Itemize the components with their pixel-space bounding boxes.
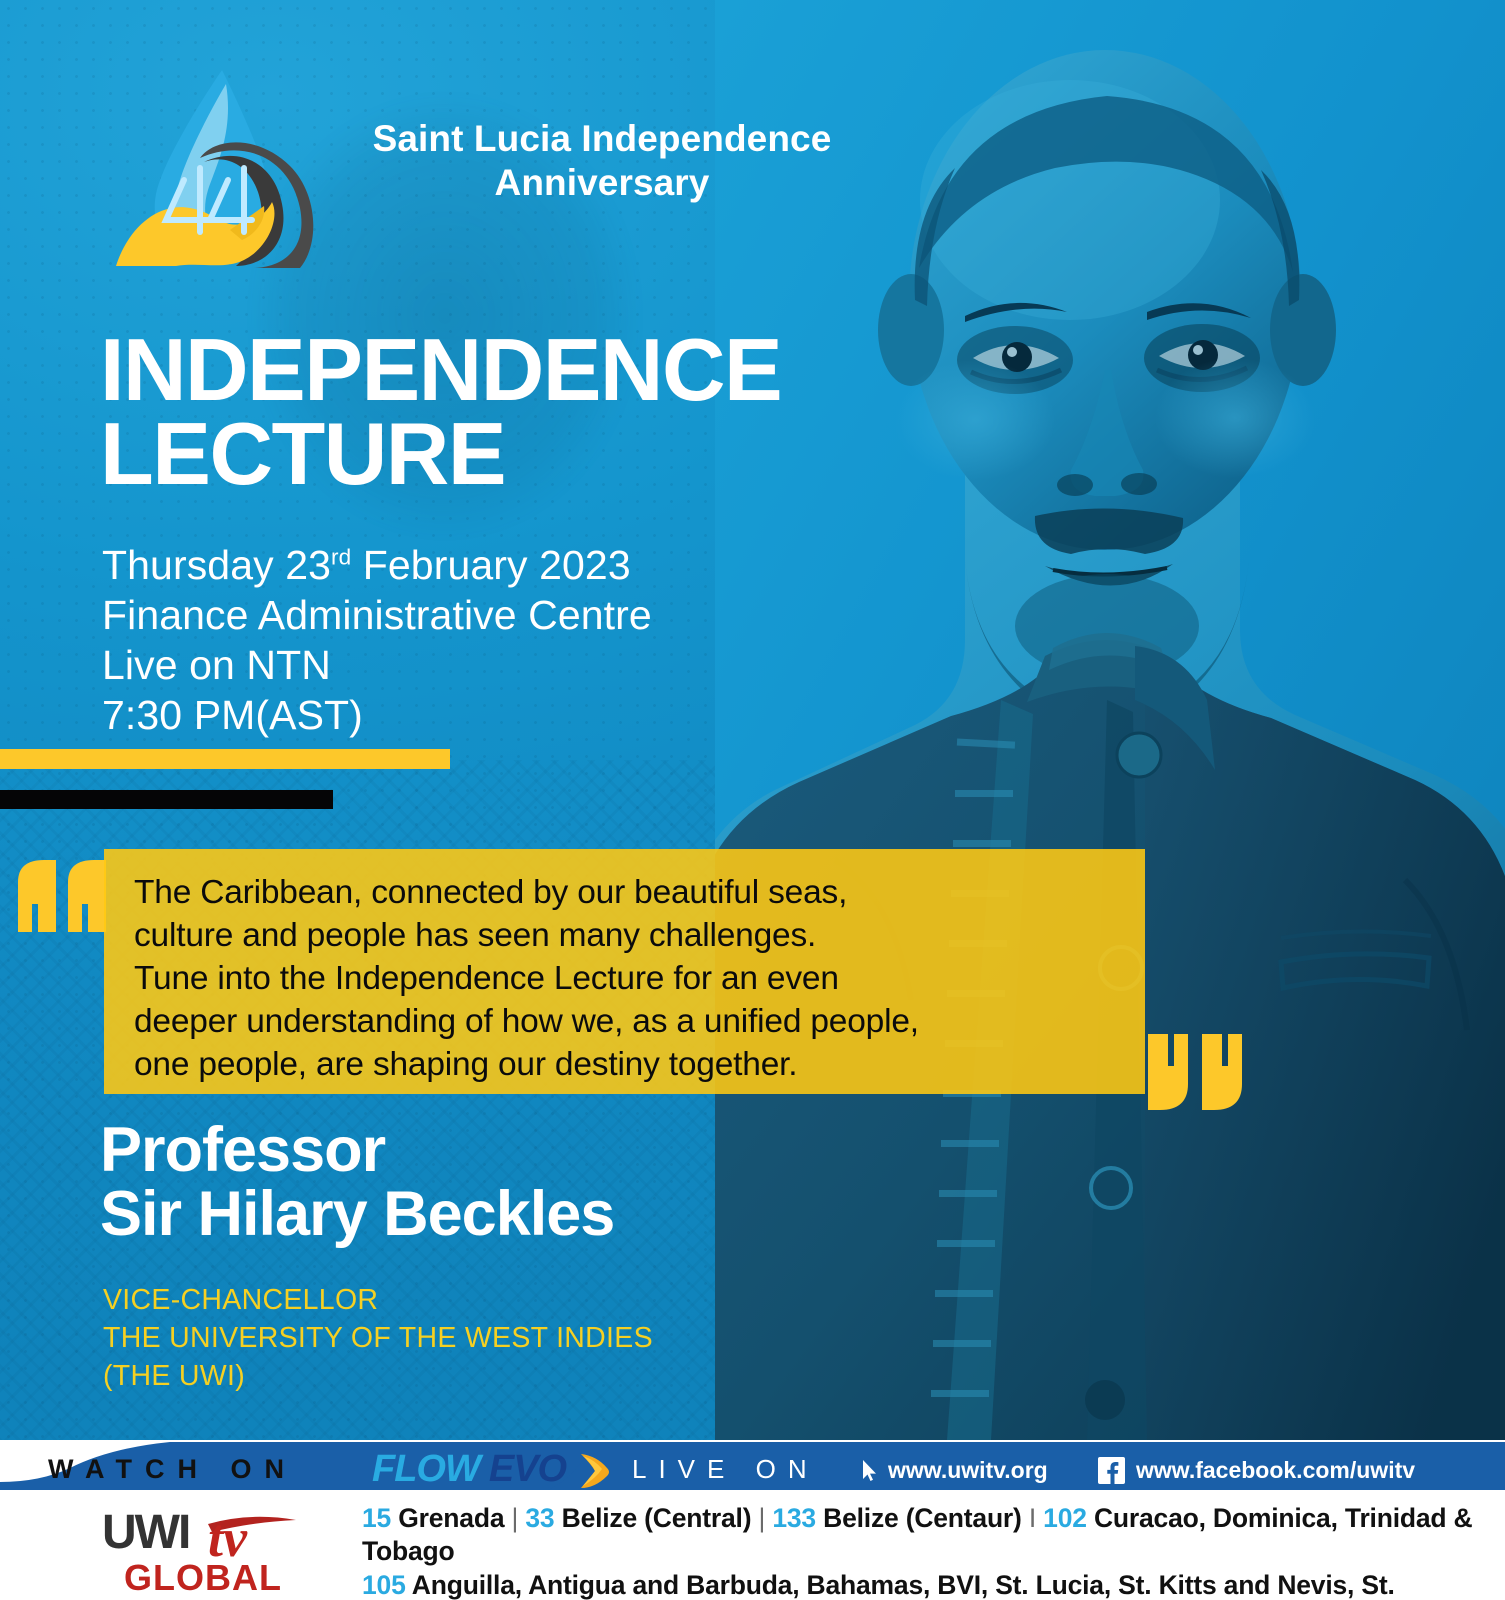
quote-open-icon bbox=[18, 860, 106, 932]
channel-listing: 15 Grenada | 33 Belize (Central) | 133 B… bbox=[362, 1502, 1482, 1600]
svg-text:GLOBAL: GLOBAL bbox=[124, 1557, 282, 1594]
cursor-arrow-icon bbox=[862, 1460, 878, 1482]
channel-number: 133 bbox=[772, 1503, 816, 1533]
speaker-role-line3: (THE UWI) bbox=[103, 1358, 863, 1396]
website-link[interactable]: www.uwitv.org bbox=[862, 1457, 1048, 1484]
speaker-role: VICE-CHANCELLOR THE UNIVERSITY OF THE WE… bbox=[103, 1282, 863, 1396]
channel-row: 105 Anguilla, Antigua and Barbuda, Baham… bbox=[362, 1569, 1482, 1600]
channel-row: 15 Grenada | 33 Belize (Central) | 133 B… bbox=[362, 1502, 1482, 1569]
uwitv-global-logo: UWI tv GLOBAL bbox=[100, 1502, 315, 1594]
quote-close-icon bbox=[1148, 1034, 1242, 1110]
quote-box: The Caribbean, connected by our beautifu… bbox=[104, 849, 1145, 1094]
channel-name: Grenada bbox=[391, 1503, 511, 1533]
channel-name: Belize (Centaur) bbox=[816, 1503, 1029, 1533]
headline-line2: LECTURE bbox=[100, 412, 900, 496]
event-date: Thursday 23rd February 2023 bbox=[102, 540, 862, 590]
quote-line-1: The Caribbean, connected by our beautifu… bbox=[134, 871, 1119, 914]
channel-number: 102 bbox=[1043, 1503, 1087, 1533]
live-on-label: LIVE ON bbox=[632, 1454, 819, 1485]
channel-number: 33 bbox=[525, 1503, 554, 1533]
saint-lucia-44-logo-icon bbox=[104, 62, 332, 282]
speaker-name: Professor Sir Hilary Beckles bbox=[100, 1118, 860, 1247]
quote-line-4: deeper understanding of how we, as a uni… bbox=[134, 1000, 1119, 1043]
event-date-prefix: Thursday 23 bbox=[102, 542, 331, 588]
watch-on-label: WATCH ON bbox=[48, 1454, 297, 1485]
facebook-icon bbox=[1098, 1457, 1125, 1484]
facebook-url: www.facebook.com/uwitv bbox=[1136, 1457, 1415, 1484]
page-title: INDEPENDENCE LECTURE bbox=[100, 328, 900, 497]
anniversary-title-line2: Anniversary bbox=[495, 162, 710, 203]
event-venue: Finance Administrative Centre bbox=[102, 590, 862, 640]
evo-wordmark: EVO bbox=[489, 1448, 566, 1491]
anniversary-title-line1: Saint Lucia Independence bbox=[373, 118, 832, 159]
channel-number: 105 bbox=[362, 1570, 406, 1600]
speaker-role-line2: THE UNIVERSITY OF THE WEST INDIES bbox=[103, 1320, 863, 1358]
speaker-fullname: Sir Hilary Beckles bbox=[100, 1182, 860, 1246]
website-url: www.uwitv.org bbox=[888, 1457, 1048, 1484]
yellow-accent-bar bbox=[0, 749, 450, 769]
quote-line-5: one people, are shaping our destiny toge… bbox=[134, 1043, 1119, 1086]
channel-separator: I bbox=[1029, 1503, 1043, 1533]
anniversary-logo-block: Saint Lucia Independence Anniversary bbox=[104, 62, 804, 292]
chevron-right-icon bbox=[575, 1450, 615, 1490]
channel-separator: | bbox=[512, 1503, 526, 1533]
flow-wordmark: FLOW bbox=[372, 1448, 480, 1491]
svg-text:UWI: UWI bbox=[102, 1506, 189, 1559]
speaker-role-line1: VICE-CHANCELLOR bbox=[103, 1282, 863, 1320]
channel-name: Anguilla, Antigua and Barbuda, Bahamas, … bbox=[362, 1570, 1395, 1600]
event-broadcast: Live on NTN bbox=[102, 640, 862, 690]
footer-bar: WATCH ON FLOW EVO LIVE ON www.uwitv.org … bbox=[0, 1440, 1505, 1600]
event-time: 7:30 PM(AST) bbox=[102, 690, 862, 740]
event-date-suffix: February 2023 bbox=[351, 542, 630, 588]
anniversary-title: Saint Lucia Independence Anniversary bbox=[352, 117, 852, 204]
black-accent-bar bbox=[0, 790, 333, 809]
event-date-ordinal: rd bbox=[331, 544, 351, 569]
quote-line-3: Tune into the Independence Lecture for a… bbox=[134, 957, 1119, 1000]
speaker-title: Professor bbox=[100, 1115, 385, 1185]
channel-name: Belize (Central) bbox=[554, 1503, 758, 1533]
quote-line-2: culture and people has seen many challen… bbox=[134, 914, 1119, 957]
facebook-link[interactable]: www.facebook.com/uwitv bbox=[1098, 1457, 1415, 1484]
channel-separator: | bbox=[759, 1503, 773, 1533]
event-details: Thursday 23rd February 2023 Finance Admi… bbox=[102, 540, 862, 740]
independence-lecture-poster: Saint Lucia Independence Anniversary IND… bbox=[0, 0, 1505, 1600]
channel-number: 15 bbox=[362, 1503, 391, 1533]
flow-evo-logo: FLOW EVO bbox=[372, 1448, 615, 1491]
